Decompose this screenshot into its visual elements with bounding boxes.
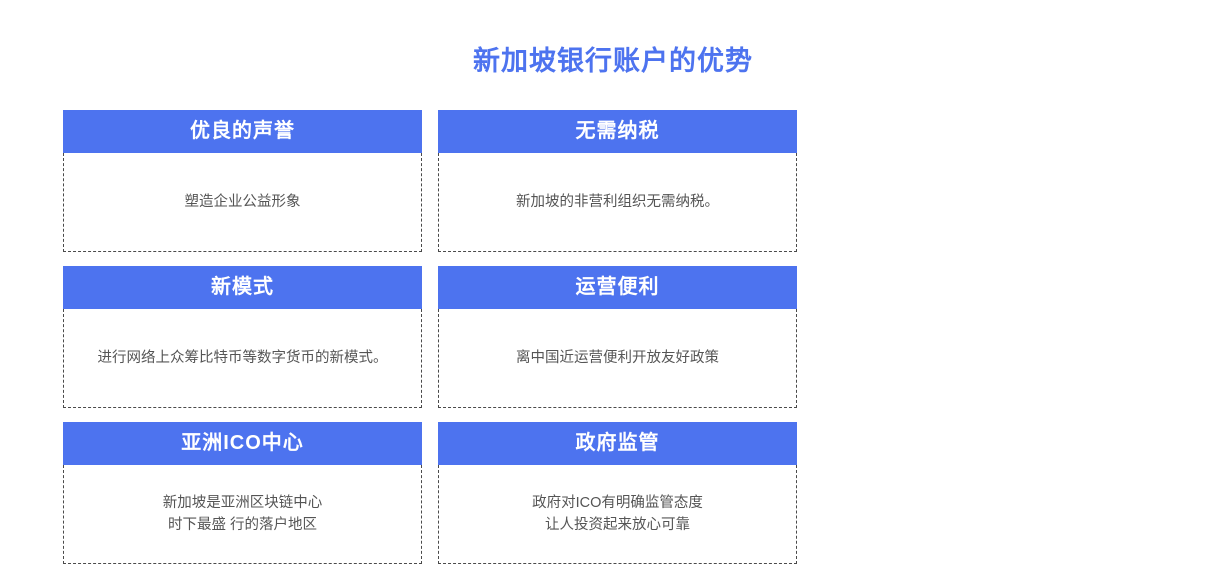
advantage-card: 运营便利 离中国近运营便利开放友好政策 [438, 266, 797, 408]
advantage-card-body: 新加坡是亚洲区块链中心 时下最盛 行的落户地区 [63, 465, 422, 564]
advantage-card-title: 无需纳税 [438, 110, 797, 153]
advantage-card: 亚洲ICO中心 新加坡是亚洲区块链中心 时下最盛 行的落户地区 [63, 422, 422, 564]
advantage-card: 新模式 进行网络上众筹比特币等数字货币的新模式。 [63, 266, 422, 408]
advantage-card: 优良的声誉 塑造企业公益形象 [63, 110, 422, 252]
advantage-card: 政府监管 政府对ICO有明确监管态度 让人投资起来放心可靠 [438, 422, 797, 564]
advantage-card-body: 政府对ICO有明确监管态度 让人投资起来放心可靠 [438, 465, 797, 564]
advantage-card-title: 优良的声誉 [63, 110, 422, 153]
advantage-card-description: 塑造企业公益形象 [185, 191, 301, 213]
advantage-card-body: 塑造企业公益形象 [63, 153, 422, 252]
advantage-card-title: 运营便利 [438, 266, 797, 309]
advantage-card-title: 政府监管 [438, 422, 797, 465]
advantage-card-title: 新模式 [63, 266, 422, 309]
advantage-card-description: 政府对ICO有明确监管态度 让人投资起来放心可靠 [532, 492, 703, 536]
advantage-card-body: 离中国近运营便利开放友好政策 [438, 309, 797, 408]
advantage-card-description: 新加坡的非营利组织无需纳税。 [516, 191, 719, 213]
advantage-card-grid: 优良的声誉 塑造企业公益形象 无需纳税 新加坡的非营利组织无需纳税。 新模式 进… [63, 110, 1168, 564]
advantage-card-description: 新加坡是亚洲区块链中心 时下最盛 行的落户地区 [163, 492, 323, 536]
advantage-card-body: 新加坡的非营利组织无需纳税。 [438, 153, 797, 252]
advantage-card-title: 亚洲ICO中心 [63, 422, 422, 465]
page-title: 新加坡银行账户的优势 [0, 44, 1226, 78]
advantage-card: 无需纳税 新加坡的非营利组织无需纳税。 [438, 110, 797, 252]
infographic-root: 新加坡银行账户的优势 优良的声誉 塑造企业公益形象 无需纳税 新加坡的非营利组织… [0, 0, 1226, 465]
advantage-card-description: 离中国近运营便利开放友好政策 [516, 347, 719, 369]
advantage-card-description: 进行网络上众筹比特币等数字货币的新模式。 [98, 347, 388, 369]
advantage-card-body: 进行网络上众筹比特币等数字货币的新模式。 [63, 309, 422, 408]
